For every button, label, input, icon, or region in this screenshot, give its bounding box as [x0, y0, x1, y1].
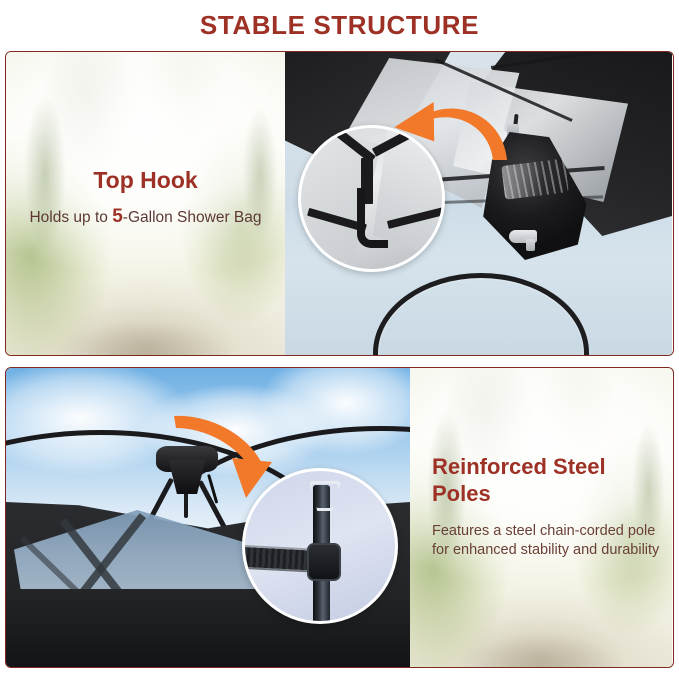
steel-poles-text-pane: Reinforced Steel Poles Features a steel … [410, 368, 672, 667]
top-hook-zoom-inset [298, 125, 445, 272]
feature-panel-steel-poles: Reinforced Steel Poles Features a steel … [5, 367, 674, 668]
infographic-page: STABLE STRUCTURE Top Hook Holds up to 5-… [0, 0, 679, 673]
steel-poles-zoom-inset [242, 468, 398, 624]
top-hook-subtitle-highlight: 5 [112, 206, 123, 227]
top-hook-subtitle-suffix: -Gallon Shower Bag [123, 209, 262, 226]
top-hook-subtitle-prefix: Holds up to [29, 209, 112, 226]
page-title-bar: STABLE STRUCTURE [0, 0, 679, 50]
top-hook-icon [357, 188, 388, 248]
top-hook-photo [285, 52, 672, 355]
top-hook-subtitle: Holds up to 5-Gallon Shower Bag [12, 206, 279, 229]
steel-poles-text-block: Reinforced Steel Poles Features a steel … [432, 454, 664, 560]
top-hook-text-block: Top Hook Holds up to 5-Gallon Shower Bag [6, 168, 285, 229]
top-hook-heading: Top Hook [12, 168, 279, 193]
steel-poles-heading: Reinforced Steel Poles [432, 454, 664, 508]
feature-panel-top-hook: Top Hook Holds up to 5-Gallon Shower Bag [5, 51, 674, 356]
top-hook-text-pane: Top Hook Holds up to 5-Gallon Shower Bag [6, 52, 285, 355]
page-title: STABLE STRUCTURE [200, 10, 479, 41]
pole-buckle [307, 543, 341, 581]
steel-poles-body: Features a steel chain-corded pole for e… [432, 522, 664, 560]
shower-bag-nozzle [509, 230, 537, 243]
steel-poles-photo [6, 368, 410, 667]
